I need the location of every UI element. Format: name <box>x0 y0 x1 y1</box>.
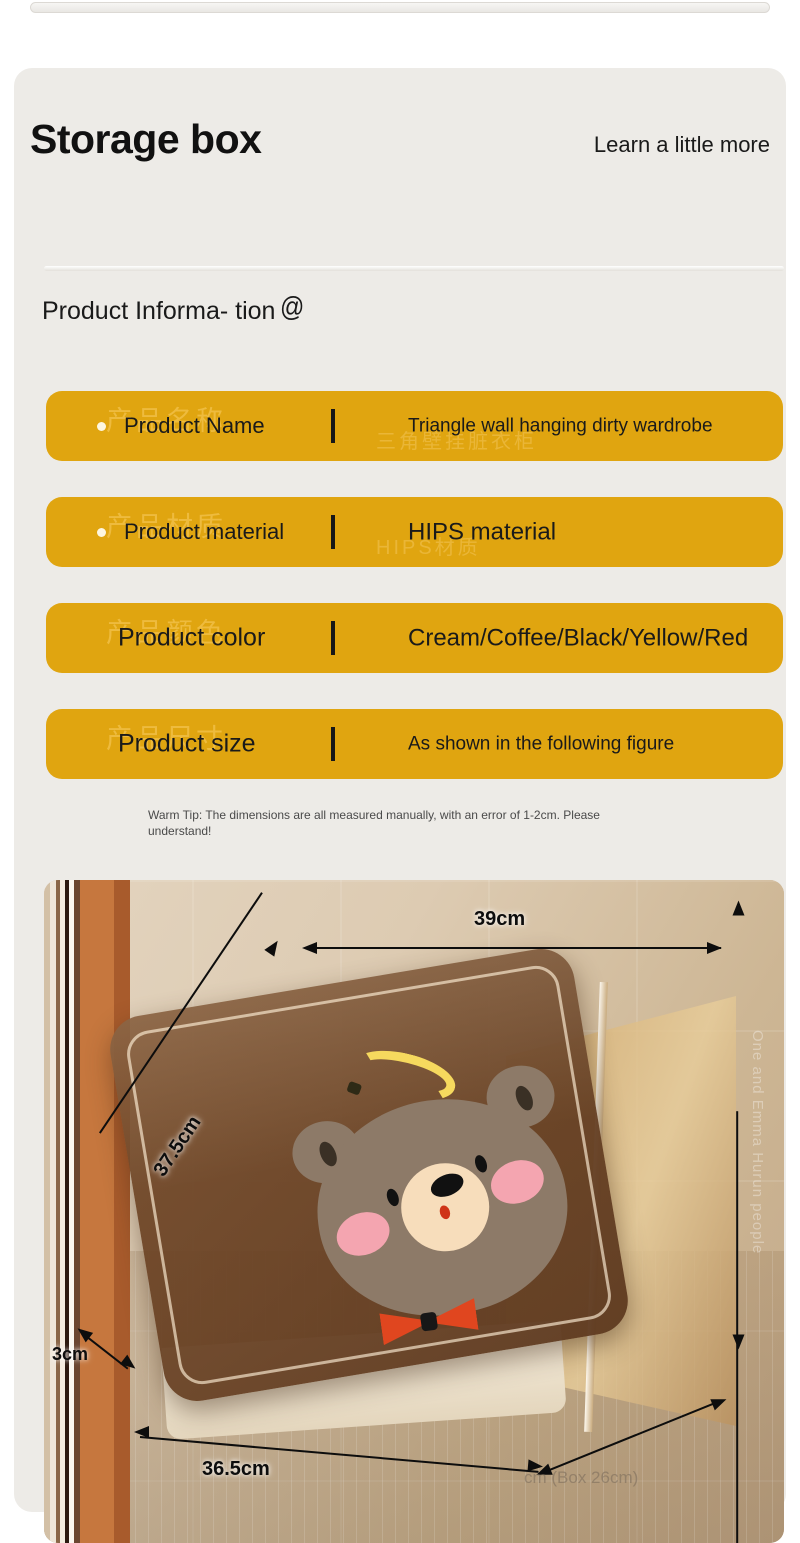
product-info-list: 产品名称 三角壁挂脏衣柜 Product Name Triangle wall … <box>46 391 783 815</box>
dim-arrow-top-left-head <box>302 942 317 954</box>
info-row-separator <box>331 621 335 655</box>
storage-box-illustration <box>106 942 726 1462</box>
info-row-label: Product material <box>124 519 284 545</box>
info-row-value: As shown in the following figure <box>408 733 758 756</box>
dim-arrow-top-right-head <box>707 942 722 954</box>
card-header: Storage box Learn a little more <box>30 116 770 178</box>
bowtie-right-wing <box>433 1298 479 1338</box>
product-detail-card: Storage box Learn a little more Product … <box>14 68 786 1512</box>
product-photo[interactable]: 39cm 37.5cm 3cm 36.5cm cm (Box 26cm) One… <box>44 880 784 1543</box>
info-row-label: Product color <box>118 624 265 653</box>
dim-label-top-width: 39cm <box>474 908 525 931</box>
dim-arrow-bottom-left-head <box>134 1426 149 1438</box>
learn-more-link[interactable]: Learn a little more <box>594 132 770 158</box>
dim-arrow-top-line <box>309 947 721 949</box>
info-row-value: Cream/Coffee/Black/Yellow/Red <box>408 627 758 650</box>
header-divider <box>44 266 784 271</box>
info-row-label: Product Name <box>124 413 265 439</box>
dim-label-bottom-right: cm (Box 26cm) <box>524 1468 638 1488</box>
info-row-label: Product size <box>118 730 256 759</box>
dim-arrow-right-vertical-line <box>736 1111 738 1543</box>
photo-watermark: One and Emma Hurun people <box>749 1030 766 1254</box>
dim-label-depth: 3cm <box>52 1344 88 1365</box>
info-row-product-size: 产品尺寸 Product size As shown in the follow… <box>46 709 783 779</box>
at-symbol-icon: @ <box>280 292 304 324</box>
bullet-icon <box>97 528 106 537</box>
dim-arrow-right-bottom-head <box>733 1335 745 1350</box>
info-row-value: Triangle wall hanging dirty wardrobe <box>408 415 758 438</box>
dim-arrow-right-top-head <box>733 901 745 916</box>
info-row-product-color: 产品颜色 Product color Cream/Coffee/Black/Ye… <box>46 603 783 673</box>
top-scroll-bar[interactable] <box>30 2 770 13</box>
info-row-separator <box>331 515 335 549</box>
info-row-separator <box>331 409 335 443</box>
warm-tip-text: Warm Tip: The dimensions are all measure… <box>148 807 656 839</box>
info-row-value: HIPS material <box>408 521 758 544</box>
page-title: Storage box <box>30 116 261 163</box>
banana-stem-icon <box>346 1081 362 1096</box>
bowtie-left-wing <box>379 1306 425 1346</box>
info-row-product-material: 产品材质 HIPS材质 Product material HIPS materi… <box>46 497 783 567</box>
bowtie-knot <box>420 1312 438 1332</box>
info-row-product-name: 产品名称 三角壁挂脏衣柜 Product Name Triangle wall … <box>46 391 783 461</box>
dim-label-bottom-width: 36.5cm <box>202 1458 270 1481</box>
bullet-icon <box>97 422 106 431</box>
bear-illustration <box>285 1037 593 1362</box>
info-row-separator <box>331 727 335 761</box>
